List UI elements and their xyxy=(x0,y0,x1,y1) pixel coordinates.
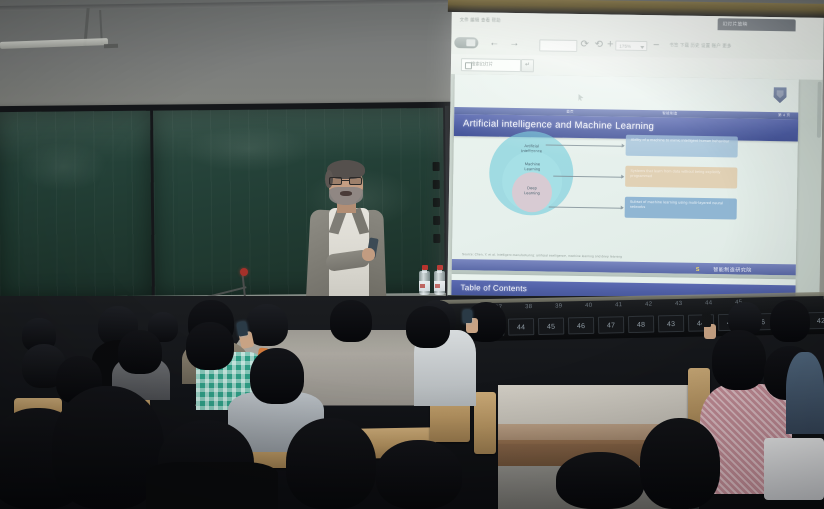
chalkboard-clip xyxy=(433,180,440,189)
microphone-head xyxy=(240,268,248,276)
bottle-cap xyxy=(422,265,428,270)
slide-search-go-button[interactable]: ↵ xyxy=(521,59,534,72)
fluorescent-light xyxy=(0,38,108,49)
redo-icon[interactable]: ⟲ xyxy=(593,38,604,51)
audience-head xyxy=(118,330,162,374)
slide-deck-viewport[interactable]: 首页 智能制造 第 4 页 Artificial intelligence an… xyxy=(447,74,823,308)
audience-head-foreground xyxy=(556,452,644,509)
seat-number: 41 xyxy=(606,298,632,313)
seat-number: 38 xyxy=(516,300,542,315)
bottle-label xyxy=(434,281,445,291)
bottle-label xyxy=(419,281,430,291)
lecture-hall-photo: 文件 编辑 查看 帮助 幻灯片放映 ← → ⟳ ⟲ + − 175% 书签 下载 xyxy=(0,0,824,509)
chalk-smudge xyxy=(183,125,313,172)
screen-surface: 文件 编辑 查看 帮助 幻灯片放映 ← → ⟳ ⟲ + − 175% 书签 下载 xyxy=(447,12,824,308)
audience-head-foreground xyxy=(640,418,720,509)
audience-head-foreground xyxy=(286,418,376,509)
seat-number: 43 xyxy=(658,315,684,333)
callout-machine-learning: Systems that learn from data without bei… xyxy=(625,166,737,189)
eyeglass-lens-left xyxy=(329,177,342,185)
eyeglass-bridge xyxy=(342,180,349,181)
seat-number: 48 xyxy=(628,316,654,334)
university-shield-icon xyxy=(773,87,786,103)
audience-bag xyxy=(764,438,824,500)
presenter-beard xyxy=(329,187,363,205)
slide-source-note: Source: Chen, Y. et al. Intelligent manu… xyxy=(462,252,622,259)
slide-nav-left: 首页 xyxy=(566,110,574,115)
browser-chrome: 文件 编辑 查看 帮助 幻灯片放映 ← → ⟳ ⟲ + − 175% 书签 下载 xyxy=(451,12,824,80)
mouse-cursor-icon xyxy=(578,94,583,101)
presenter xyxy=(300,160,420,315)
slide-search-input[interactable]: 搜索幻灯片 xyxy=(461,58,521,72)
seat-number: 43 xyxy=(666,297,692,312)
slide-search-value: 搜索幻灯片 xyxy=(471,61,493,67)
seat-number: 47 xyxy=(598,316,624,334)
chalkboard-panel-left xyxy=(0,111,152,298)
callout-artificial-intelligence: Ability of a machine to mimic intelligen… xyxy=(626,135,738,158)
browser-active-tab-label: 幻灯片放映 xyxy=(723,21,748,27)
seat-number: 39 xyxy=(546,299,572,314)
chalkboard-clip xyxy=(433,234,440,243)
seat-number: 42 xyxy=(636,297,662,312)
current-slide[interactable]: 首页 智能制造 第 4 页 Artificial intelligence an… xyxy=(452,74,799,275)
chalk-smudge xyxy=(18,141,108,192)
audience-head xyxy=(406,306,450,348)
audience-head-foreground xyxy=(376,440,462,509)
slide-nav-right: 第 4 页 xyxy=(778,113,790,118)
back-icon[interactable]: ← xyxy=(487,37,501,50)
slide-footer-institute: 智能制造研究院 xyxy=(713,266,752,274)
seat-number: 45 xyxy=(538,317,564,335)
light-bracket xyxy=(104,44,118,48)
bottle-cap xyxy=(437,265,443,270)
browser-right-tools[interactable]: 书签 下载 历史 设置 账户 更多 xyxy=(669,42,731,49)
chalkboard-clip xyxy=(433,162,440,171)
seat-number: 44 xyxy=(696,296,722,311)
reload-icon[interactable]: ⟳ xyxy=(579,38,590,51)
zoom-out-icon[interactable]: − xyxy=(651,39,661,52)
chalkboard-sheen xyxy=(153,108,443,163)
audience-torso-foreground xyxy=(146,462,278,509)
browser-menu-bar[interactable]: 文件 编辑 查看 帮助 xyxy=(460,17,501,24)
audience-torso xyxy=(786,352,824,434)
deck-scrollbar[interactable] xyxy=(817,82,822,138)
callout-deep-learning: Subset of machine learning using multi-l… xyxy=(625,197,737,220)
eyeglasses-icon xyxy=(328,177,364,185)
phone-screen xyxy=(463,310,472,323)
phone-device xyxy=(702,314,711,327)
next-slide-title: Table of Contents xyxy=(460,283,527,293)
seat-number: 40 xyxy=(576,299,602,314)
address-input[interactable] xyxy=(539,39,577,52)
chalkboard-sheen xyxy=(0,111,151,164)
zoom-level-select[interactable]: 175% xyxy=(615,41,647,52)
eyeglass-lens-right xyxy=(349,177,362,185)
projection-screen: 文件 编辑 查看 帮助 幻灯片放映 ← → ⟳ ⟲ + − 175% 书签 下载 xyxy=(447,0,824,308)
presenter-mouth xyxy=(340,191,352,196)
audience-head xyxy=(250,348,304,404)
chair-back xyxy=(474,392,496,454)
audience-head xyxy=(186,322,234,370)
browser-active-tab[interactable]: 幻灯片放映 xyxy=(718,18,796,31)
venn-label-machine-learning: MachineLearning xyxy=(502,162,562,172)
venn-diagram: ArtificialIntelligence MachineLearning D… xyxy=(489,131,574,216)
ceiling-beam xyxy=(0,0,470,11)
venn-label-deep-learning: DeepLearning xyxy=(512,186,552,196)
slide-nav-mid: 智能制造 xyxy=(662,111,677,116)
chalkboard-clip xyxy=(433,216,440,225)
audience-head xyxy=(330,300,372,342)
chalkboard-clip xyxy=(433,198,440,207)
slide-footer-logo-mark: S xyxy=(696,267,700,273)
water-bottle xyxy=(434,265,445,295)
seat-number: 44 xyxy=(508,318,534,336)
forward-icon[interactable]: → xyxy=(507,37,521,50)
audience-head xyxy=(712,330,766,390)
presenter-hand xyxy=(362,248,375,261)
presentation-toggle-button[interactable] xyxy=(454,37,478,48)
audience-head xyxy=(770,300,810,342)
zoom-in-icon[interactable]: + xyxy=(605,38,615,51)
seat-number: 46 xyxy=(568,317,594,335)
seat-number: 42 xyxy=(808,312,824,330)
water-bottle xyxy=(419,265,430,295)
